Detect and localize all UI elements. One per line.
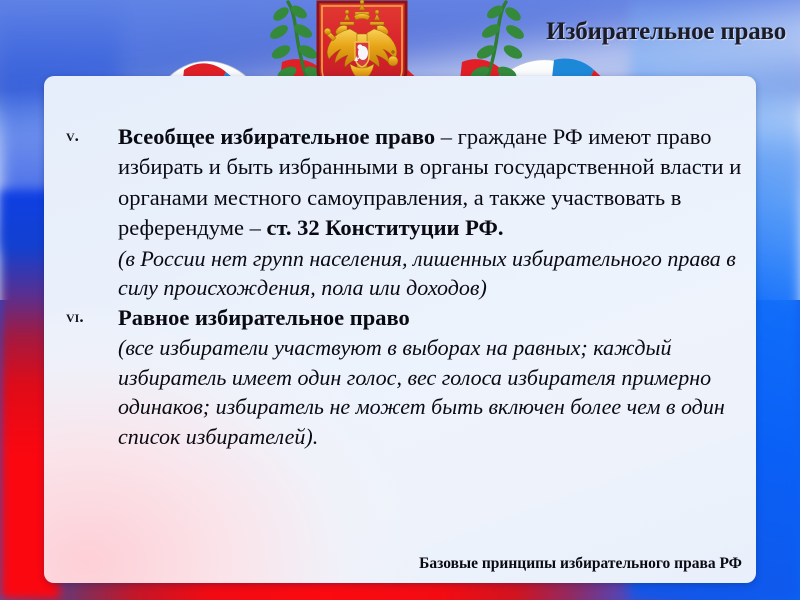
page-title: Избирательное право	[546, 18, 786, 46]
list-item: v. Всеобщее избирательное право – гражда…	[58, 122, 744, 303]
principle-text: Всеобщее избирательное право – граждане …	[118, 122, 744, 244]
list-item: vi. Равное избирательное право (все изби…	[58, 303, 744, 451]
list-marker: vi.	[66, 307, 110, 327]
principle-note: (в России нет групп населения, лишенных …	[118, 244, 744, 303]
principle-lead: Равное избирательное право	[118, 305, 410, 330]
principle-tail: ст. 32 Конституции РФ.	[266, 215, 503, 240]
slide-canvas: Избирательное право v. Всеобщее избирате…	[0, 0, 800, 600]
principle-lead: Всеобщее избирательное право	[118, 124, 435, 149]
principle-text: Равное избирательное право	[118, 303, 744, 333]
content-panel: v. Всеобщее избирательное право – гражда…	[44, 76, 756, 583]
content-body: v. Всеобщее избирательное право – гражда…	[58, 122, 744, 451]
principles-list: v. Всеобщее избирательное право – гражда…	[58, 122, 744, 451]
list-marker: v.	[66, 126, 110, 146]
footer-note: Базовые принципы избирательного права РФ	[419, 555, 742, 573]
principle-note: (все избиратели участвуют в выборах на р…	[118, 333, 744, 451]
